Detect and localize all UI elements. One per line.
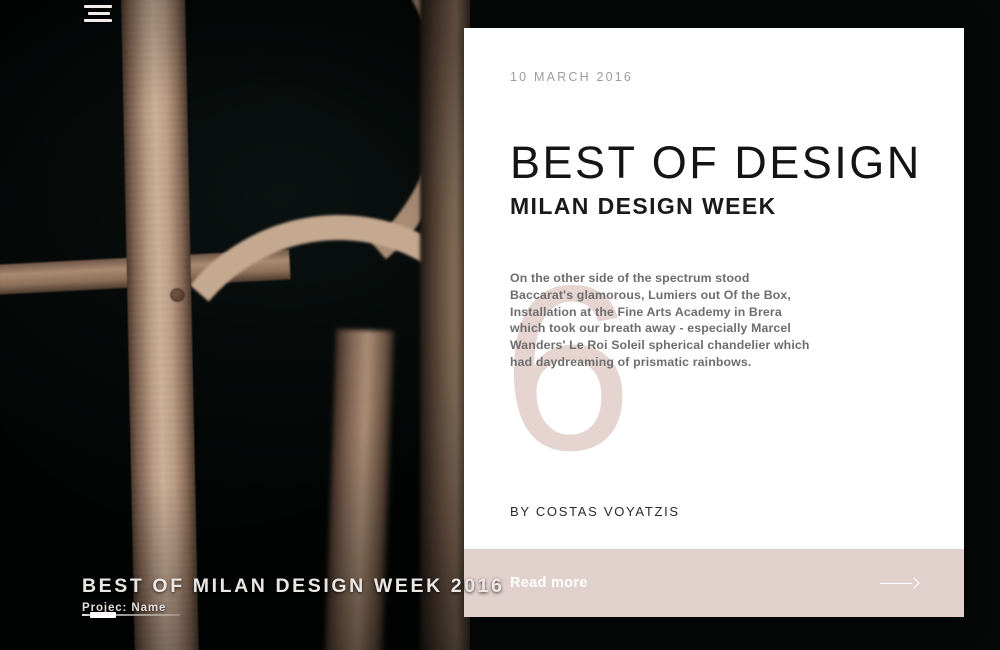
article-excerpt: On the other side of the spectrum stood …: [510, 270, 815, 371]
article-card-body: 10 MARCH 2016 BEST OF DESIGN MILAN DESIG…: [464, 28, 964, 549]
article-date: 10 MARCH 2016: [510, 70, 918, 84]
arrow-right-icon: [880, 577, 918, 589]
photo-vignette: [0, 0, 470, 650]
hamburger-menu-icon[interactable]: [84, 2, 118, 28]
hamburger-line-middle: [88, 12, 110, 15]
arrow-head: [908, 577, 919, 588]
read-more-button[interactable]: Read more: [464, 549, 964, 617]
page-root: BEST OF MILAN DESIGN WEEK 2016 Projec: N…: [0, 0, 1000, 650]
article-subtitle: MILAN DESIGN WEEK: [510, 195, 918, 218]
article-card: 10 MARCH 2016 BEST OF DESIGN MILAN DESIG…: [464, 28, 964, 617]
article-title: BEST OF DESIGN: [510, 140, 918, 185]
hero-photo: [0, 0, 470, 650]
photo-caption: BEST OF MILAN DESIGN WEEK 2016 Projec: N…: [82, 575, 505, 614]
slideshow-progress-slider[interactable]: [82, 613, 180, 616]
article-byline: BY COSTAS VOYATZIS: [510, 504, 680, 519]
hamburger-line-top: [84, 5, 112, 8]
photo-caption-title: BEST OF MILAN DESIGN WEEK 2016: [82, 575, 505, 598]
progress-handle[interactable]: [90, 612, 116, 618]
hamburger-line-bottom: [84, 19, 112, 22]
read-more-label: Read more: [510, 575, 588, 591]
